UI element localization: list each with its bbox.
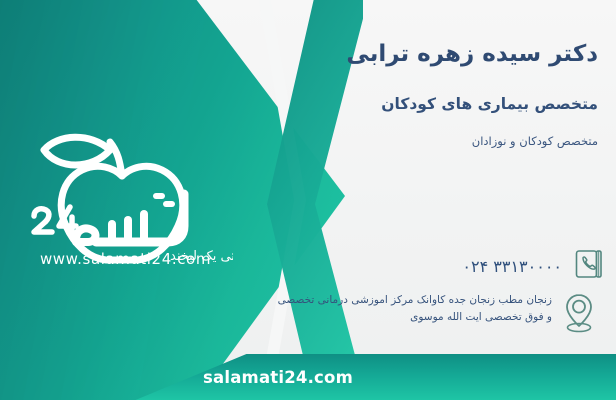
address-text: زنجان مطب زنجان جده کاوانک مرکز اموزشی د…	[274, 292, 552, 327]
badge-24	[34, 207, 76, 234]
doctor-subspecialty: متخصص کودکان و نوزادان	[178, 134, 598, 148]
phone-book-icon	[574, 248, 604, 284]
phone-row[interactable]: ۳۳۱۳۰۰۰۰ ۰۲۴	[462, 248, 604, 284]
doctor-name: دکتر سیده زهره ترابی	[178, 40, 598, 70]
address-row[interactable]: زنجان مطب زنجان جده کاوانک مرکز اموزشی د…	[274, 292, 604, 338]
business-card: براحتی یک لبخند www.salamati24.com دکتر …	[0, 0, 616, 400]
brand-website: www.salamati24.com	[18, 250, 233, 268]
phone-number: ۳۳۱۳۰۰۰۰ ۰۲۴	[462, 257, 562, 276]
doctor-specialty: متخصص بیماری های کودکان	[178, 95, 598, 113]
location-pin-icon	[562, 292, 596, 338]
footer-website[interactable]: salamati24.com	[0, 354, 616, 400]
